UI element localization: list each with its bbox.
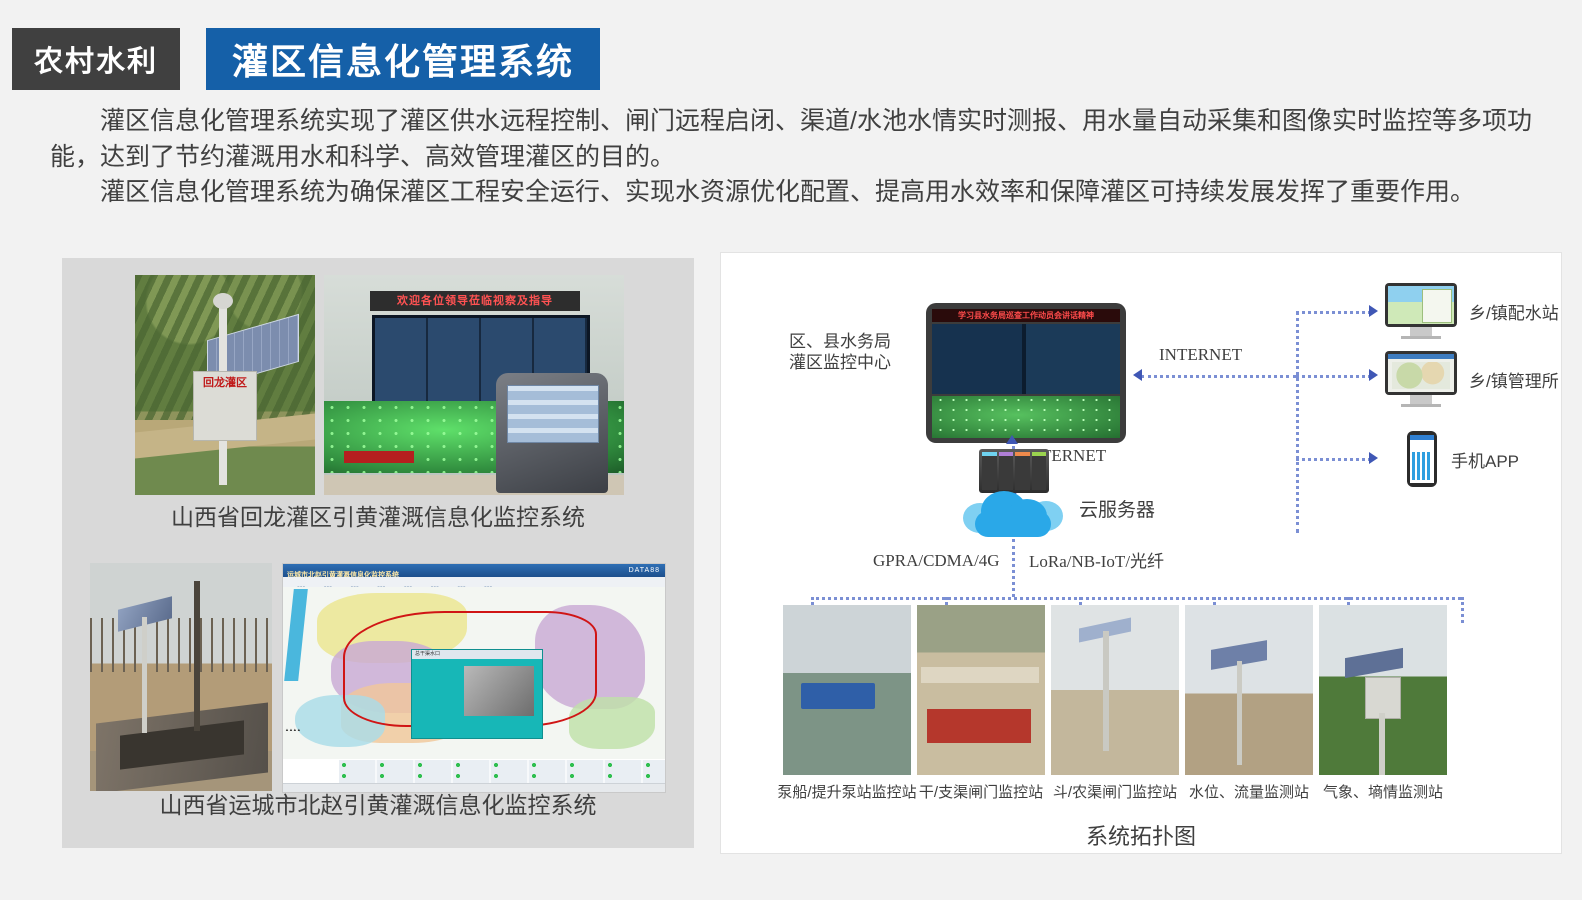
station-label-pump-boat: 泵船/提升泵站监控站: [777, 781, 917, 802]
page-header: 农村水利 灌区信息化管理系统: [0, 28, 600, 90]
station-photo-weather-soil-moisture: [1319, 605, 1447, 775]
station-drop-line: [1461, 597, 1464, 623]
mounting-pole: [1237, 661, 1242, 765]
utility-pole: [194, 581, 200, 731]
cloud-server-label: 云服务器: [1079, 499, 1155, 523]
phone-screen: [1410, 435, 1434, 483]
photo-canal-solar-post: [90, 563, 272, 791]
monitor-bezel: [1385, 283, 1457, 327]
arrow-up-icon: [1006, 435, 1018, 444]
internet-label-right: INTERNET: [1159, 345, 1242, 365]
field-station-photo-row: [783, 605, 1447, 775]
gallery-caption-2: 山西省运城市北赵引黄灌溉信息化监控系统: [62, 786, 694, 820]
photo-row-bottom: 运城市北赵引黄灌溉信息化监控系统 DATA88 ▮▮▮ ▮▮▮ ▮▮▮ ▮▮▮ …: [90, 563, 666, 793]
client-label-mobile-app: 手机APP: [1451, 451, 1519, 472]
station-photo-main-canal-gate: [917, 605, 1045, 775]
mounting-pole: [1379, 713, 1385, 775]
link-label-right: LoRa/NB-IoT/光纤: [1029, 551, 1164, 572]
gate-beam: [921, 667, 1039, 683]
client-label-management-office: 乡/镇管理所: [1469, 371, 1559, 392]
field-station-bus-line: [811, 597, 1461, 600]
link-to-management-office: [1296, 375, 1371, 378]
gis-map-canvas: 总干渠水口 ▲▲▲▲: [283, 587, 665, 759]
intro-text: 灌区信息化管理系统实现了灌区供水远程控制、闸门远程启闭、渠道/水池水情实时测报、…: [50, 104, 1550, 211]
monitor-screen: [1388, 286, 1454, 324]
photo-row-top: 回龙灌区 欢迎各位领导莅临视察及指导: [135, 275, 624, 495]
cabinet-label: 回龙灌区: [194, 372, 256, 390]
monitor-screen: [1388, 354, 1454, 392]
solar-panel-icon: [1345, 648, 1403, 678]
monitor-stand: [1410, 395, 1432, 404]
station-label-main-canal-gate: 干/支渠闸门监控站: [911, 781, 1051, 802]
client-trunk-line: [1296, 311, 1299, 533]
client-label-distribution-station: 乡/镇配水站: [1469, 303, 1559, 324]
map-legend: ▲▲▲▲: [285, 727, 337, 757]
welcome-banner: 欢迎各位领导莅临视察及指导: [370, 291, 580, 311]
photo-control-room: 欢迎各位领导莅临视察及指导: [324, 275, 624, 495]
intro-paragraph-1: 灌区信息化管理系统实现了灌区供水远程控制、闸门远程启闭、渠道/水池水情实时测报、…: [50, 104, 1550, 175]
station-photo-pump-boat: [783, 605, 911, 775]
center-video-wall: [932, 324, 1120, 394]
arrow-left-icon: [1133, 369, 1142, 381]
station-photo-branch-canal-gate: [1051, 605, 1179, 775]
chart-bars-icon: [1412, 452, 1432, 480]
link-to-mobile-app: [1296, 458, 1371, 461]
client-monitor-management-office: [1385, 351, 1457, 407]
sandbox-name-plate: [344, 451, 414, 463]
app-titlebar: 运城市北赵引黄灌溉信息化监控系统 DATA88: [283, 564, 665, 577]
monitor-base: [1401, 336, 1441, 339]
station-detail-popup[interactable]: 总干渠水口: [411, 649, 543, 739]
equipment-cabinet: 回龙灌区: [193, 371, 257, 441]
center-screen-banner: 学习县水务局巡查工作动员会讲话精神: [932, 309, 1120, 322]
popup-camera-view: [464, 666, 534, 716]
river-layer: [284, 589, 308, 681]
app-brand: DATA88: [629, 564, 665, 577]
cloud-body: [975, 511, 1051, 537]
system-topology-panel: 区、县水务局 灌区监控中心 学习县水务局巡查工作动员会讲话精神 INTERNET…: [720, 252, 1562, 854]
topology-caption: 系统拓扑图: [721, 819, 1561, 851]
control-center-device: 学习县水务局巡查工作动员会讲话精神: [926, 303, 1126, 443]
header-category-tag: 农村水利: [12, 28, 180, 90]
smartphone-icon: [1407, 431, 1437, 487]
internet-link-center-to-clients: [1141, 375, 1296, 378]
station-label-weather-soil: 气象、墒情监测站: [1313, 781, 1453, 802]
sensor-head: [213, 293, 233, 309]
intro-paragraph-2: 灌区信息化管理系统为确保灌区工程安全运行、实现水资源优化配置、提高用水效率和保障…: [50, 175, 1550, 211]
center-sandbox-model: [932, 396, 1120, 438]
cloud-to-field-bus-line: [1012, 539, 1015, 597]
gallery-caption-1: 山西省回龙灌区引黄灌溉信息化监控系统: [62, 498, 694, 532]
mounting-pole: [1103, 631, 1109, 751]
link-label-left: GPRA/CDMA/4G: [873, 551, 1000, 571]
popup-title: 总干渠水口: [412, 650, 542, 659]
arrow-right-icon: [1369, 369, 1378, 381]
station-label-water-level-flow: 水位、流量监测站: [1179, 781, 1319, 802]
arrow-right-icon: [1369, 305, 1378, 317]
station-photo-water-level-flow: [1185, 605, 1313, 775]
kiosk-screen: [507, 385, 599, 443]
link-to-distribution-station: [1296, 311, 1371, 314]
photo-gis-software-screenshot: 运城市北赵引黄灌溉信息化监控系统 DATA88 ▮▮▮ ▮▮▮ ▮▮▮ ▮▮▮ …: [282, 563, 666, 793]
page-title: 灌区信息化管理系统: [206, 28, 600, 90]
client-monitor-distribution-station: [1385, 283, 1457, 339]
arrow-right-icon: [1369, 452, 1378, 464]
control-kiosk: [496, 373, 608, 493]
topology-diagram: 区、县水务局 灌区监控中心 学习县水务局巡查工作动员会讲话精神 INTERNET…: [721, 253, 1561, 853]
control-center-label: 区、县水务局 灌区监控中心: [789, 331, 891, 374]
monitor-bezel: [1385, 351, 1457, 395]
mounting-mast: [142, 617, 147, 733]
monitor-base: [1401, 404, 1441, 407]
cloud-icon: [963, 481, 1063, 537]
photo-solar-monitoring-station: 回龙灌区: [135, 275, 315, 495]
station-label-branch-canal-gate: 斗/农渠闸门监控站: [1045, 781, 1185, 802]
monitor-stand: [1410, 327, 1432, 336]
photo-gallery-panel: 回龙灌区 欢迎各位领导莅临视察及指导 山西省回龙灌区引黄灌溉信息化监控系统: [62, 258, 694, 848]
